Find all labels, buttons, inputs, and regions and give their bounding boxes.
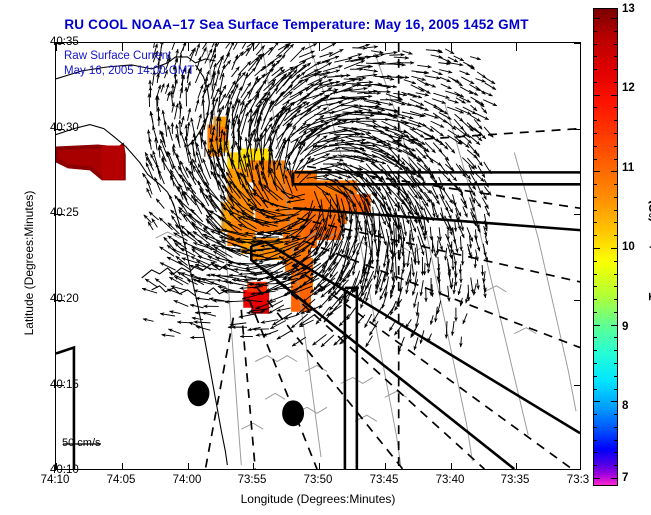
ytick-2: 40:25 [50,207,79,219]
xtick-6: 73:40 [436,474,465,486]
vector-scale-legend: 50 cm/s [62,437,101,451]
ytick-3: 40:20 [50,293,79,305]
station-marker-layer [56,43,580,469]
cbtick-8: 8 [622,400,628,412]
ytick-4: 40:15 [50,379,79,391]
cbtick-10: 10 [622,241,635,253]
raw-surface-current-annotation: Raw Surface Current May 16, 2005 14:00 G… [64,49,194,79]
ytick-0: 40:35 [50,36,79,48]
cbtick-9: 9 [622,321,628,333]
cbtick-11: 11 [622,162,634,174]
xtick-4: 73:50 [304,474,333,486]
cbtick-7: 7 [622,472,628,484]
x-axis-label: Longitude (Degrees:Minutes) [55,492,581,506]
ytick-5: 40:10 [50,464,79,476]
annotation-line-2: May 16, 2005 14:00 GMT [64,64,194,79]
xtick-7: 73:35 [501,474,530,486]
map-layers: Raw Surface Current May 16, 2005 14:00 G… [56,43,580,469]
ytick-1: 40:30 [50,122,79,134]
annotation-line-1: Raw Surface Current [64,49,194,64]
y-axis-label: Latitude (Degrees:Minutes) [22,143,36,383]
xtick-3: 73:55 [238,474,267,486]
temperature-colorbar[interactable] [593,8,618,486]
cbtick-13: 13 [622,3,635,15]
colorbar-label: Temperature (°C) [647,155,651,345]
xtick-1: 74:05 [107,474,136,486]
station-marker-east[interactable] [282,400,304,426]
xtick-5: 73:45 [370,474,399,486]
cbtick-12: 12 [622,82,635,94]
map-plot-area[interactable]: Raw Surface Current May 16, 2005 14:00 G… [55,42,581,470]
scale-arrow-icon [62,437,101,451]
station-marker-west[interactable] [187,380,209,406]
xtick-8: 73:3 [567,474,589,486]
xtick-2: 74:00 [173,474,202,486]
figure-canvas: RU COOL NOAA–17 Sea Surface Temperature:… [0,0,651,515]
figure-title: RU COOL NOAA–17 Sea Surface Temperature:… [0,17,593,32]
